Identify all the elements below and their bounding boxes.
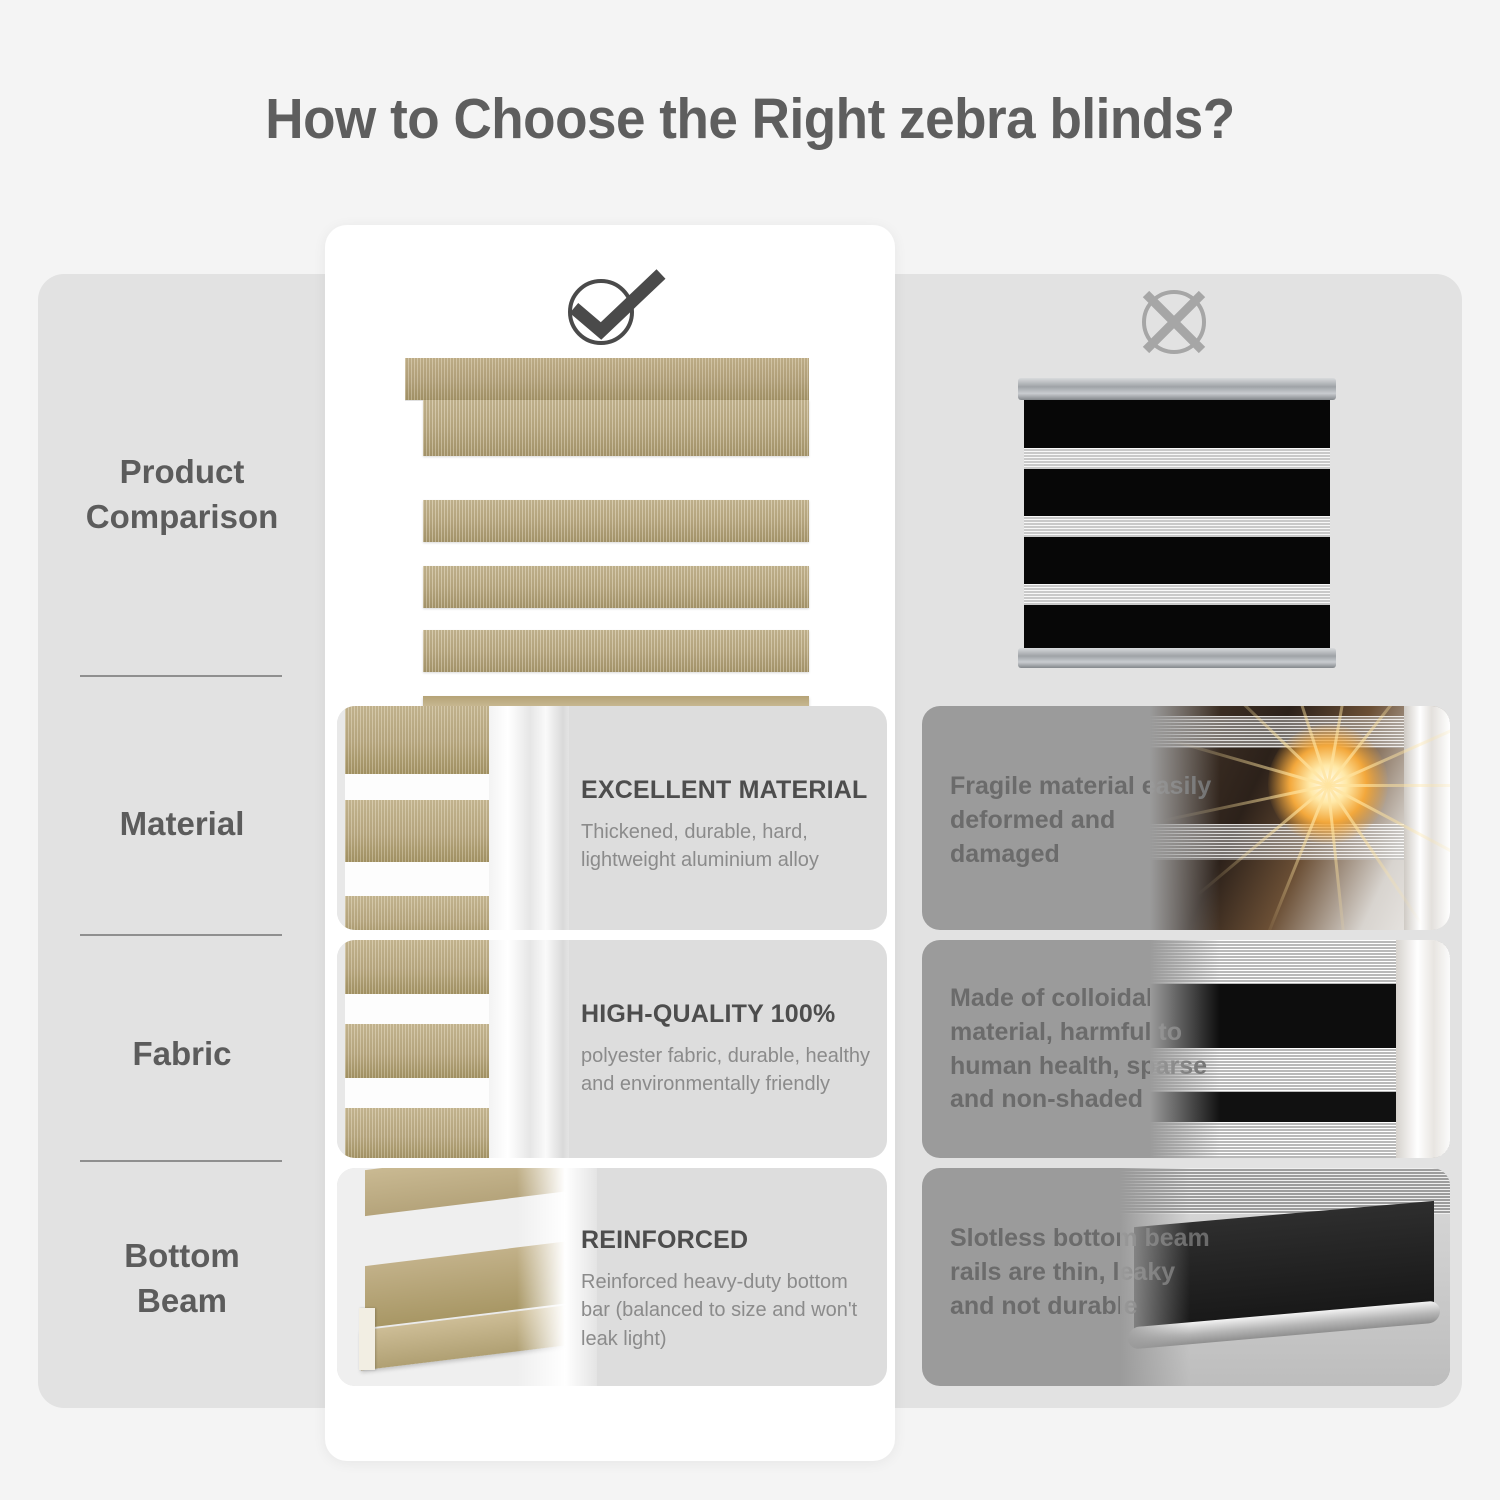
sun-glare-icon [1268,724,1388,844]
row-label-line2: Beam [38,1279,326,1324]
row-label-line1: Bottom [38,1234,326,1279]
tan-slat [423,630,809,672]
good-feature-body: Thickened, durable, hard, lightweight al… [581,818,881,875]
good-feature-heading: EXCELLENT MATERIAL [581,776,867,805]
row-divider-3 [80,1160,282,1162]
row-divider-2 [80,934,282,936]
good-feature-body: polyester fabric, durable, healthy and e… [581,1042,881,1099]
good-feature-heading: REINFORCED [581,1226,748,1255]
good-feature-card-bottom-beam: REINFORCED Reinforced heavy-duty bottom … [337,1168,887,1386]
page-title: How to Choose the Right zebra blinds? [53,86,1448,152]
tan-headrail [405,358,809,400]
row-label-line1: Material [38,802,326,847]
bad-feature-card-material: Fragile material easily deformed and dam… [922,706,1450,930]
row-divider-1 [80,675,282,677]
good-feature-photo [337,706,569,930]
row-label-product-comparison: Product Comparison [38,450,326,539]
bad-feature-card-bottom-beam: Slotless bottom beam rails are thin, lea… [922,1168,1450,1386]
tan-slat [423,400,809,456]
reinforced-end-cap [359,1308,375,1370]
good-feature-photo [337,940,569,1158]
row-label-material: Material [38,802,326,847]
black-headrail [1018,378,1336,400]
tan-slat [423,500,809,542]
sheer-stripe [1024,584,1330,605]
good-feature-body: Reinforced heavy-duty bottom bar (balanc… [581,1268,881,1353]
bad-hero-image [1018,378,1336,670]
sheer-stripe [1024,516,1330,537]
bad-feature-photo [1150,706,1450,930]
check-circle-icon [558,268,668,348]
good-feature-card-material: EXCELLENT MATERIAL Thickened, durable, h… [337,706,887,930]
black-fabric [1024,400,1330,648]
row-label-line2: Comparison [38,495,326,540]
good-feature-text: HIGH-QUALITY 100% polyester fabric, dura… [557,940,887,1158]
row-label-fabric: Fabric [38,1032,326,1077]
sheer-stripe [1024,448,1330,469]
black-bottom-rail [1018,648,1336,668]
good-feature-text: REINFORCED Reinforced heavy-duty bottom … [557,1168,887,1386]
bad-feature-card-fabric: Made of colloidal material, harmful to h… [922,940,1450,1158]
tan-slat [423,566,809,608]
row-label-line1: Fabric [38,1032,326,1077]
bad-feature-photo [1150,940,1450,1158]
good-feature-heading: HIGH-QUALITY 100% [581,1000,835,1029]
good-hero-image [405,358,809,698]
row-label-bottom-beam: Bottom Beam [38,1234,326,1323]
bad-feature-photo [1120,1168,1450,1386]
x-circle-icon [1128,284,1220,356]
good-feature-text: EXCELLENT MATERIAL Thickened, durable, h… [557,706,887,930]
row-label-line1: Product [38,450,326,495]
good-feature-card-fabric: HIGH-QUALITY 100% polyester fabric, dura… [337,940,887,1158]
row-label-column: Product Comparison Material Fabric Botto… [38,274,326,1408]
